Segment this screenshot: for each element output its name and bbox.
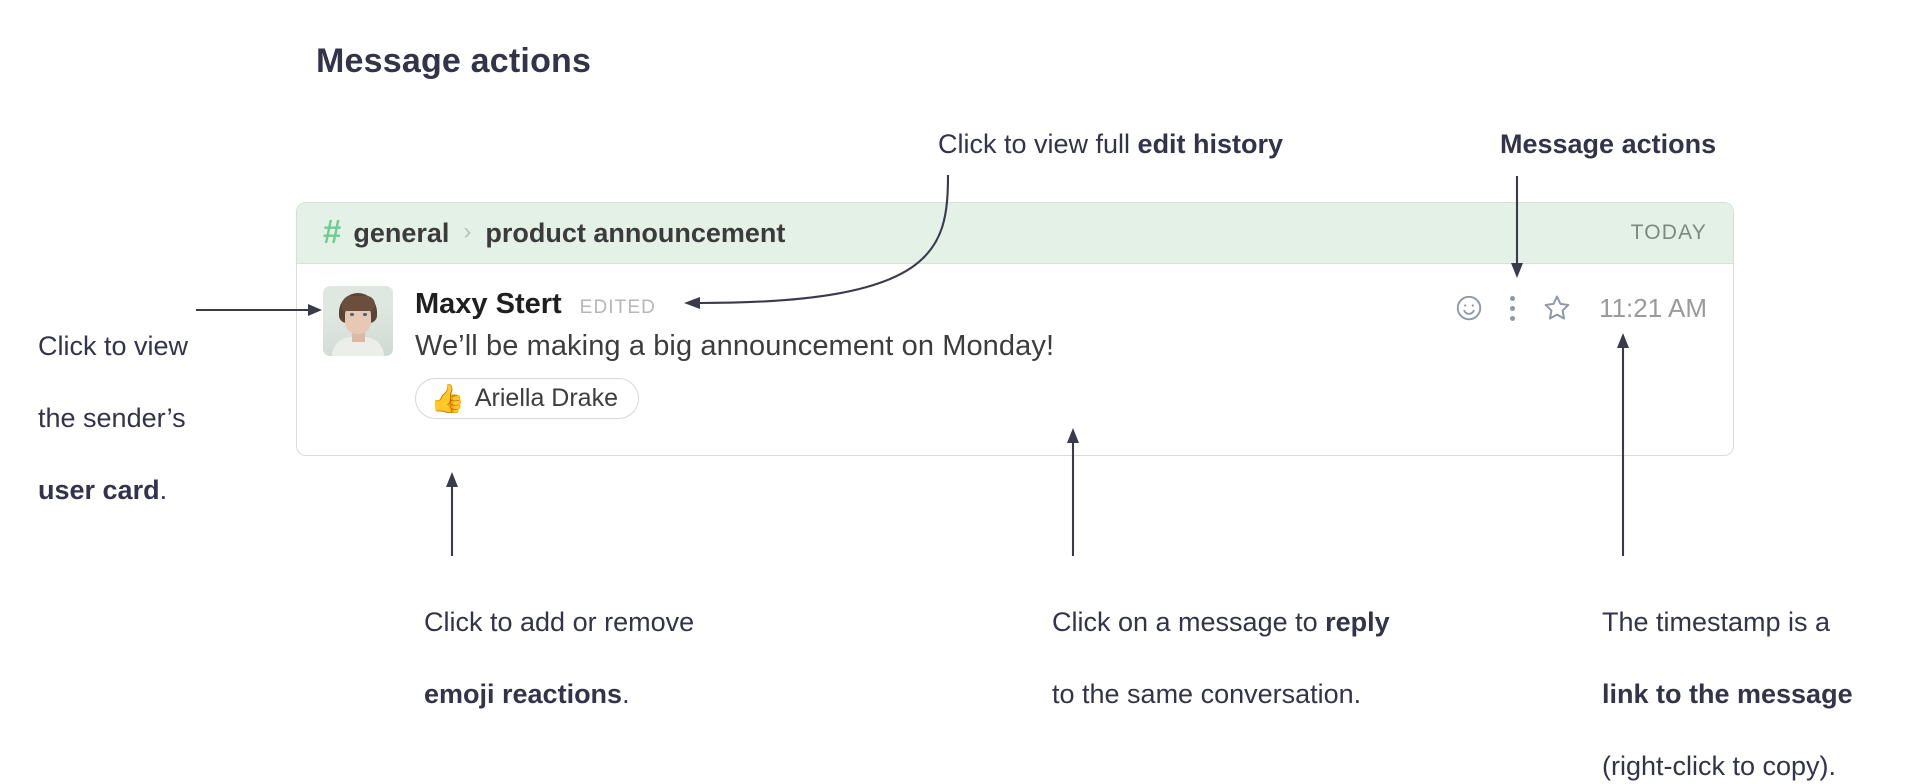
day-label: TODAY <box>1631 221 1707 245</box>
dot-3 <box>1510 316 1515 321</box>
annotation-emoji-reactions-line1: Click to add or remove <box>424 607 694 637</box>
annotation-actions-menu-bold: Message actions <box>1500 129 1716 159</box>
edited-label[interactable]: EDITED <box>580 297 656 319</box>
thumbs-up-icon: 👍 <box>430 385 465 413</box>
annotation-user-card: Click to view the sender’s user card. <box>38 292 288 508</box>
message-card: # general › product announcement TODAY M… <box>296 202 1734 456</box>
annotation-emoji-reactions: Click to add or remove emoji reactions. <box>424 568 804 712</box>
annotation-timestamp-link-bold: link to the message <box>1602 679 1853 709</box>
annotation-user-card-line2: the sender’s <box>38 403 186 433</box>
avatar[interactable] <box>323 286 393 356</box>
reaction-pill[interactable]: 👍 Ariella Drake <box>415 378 639 419</box>
message-actions-menu-icon[interactable] <box>1510 293 1515 323</box>
annotation-reply-bold: reply <box>1325 607 1390 637</box>
add-reaction-icon[interactable] <box>1454 293 1484 323</box>
hash-icon: # <box>323 215 341 248</box>
card-body[interactable]: Maxy Stert EDITED We’ll be making a big … <box>297 264 1733 419</box>
annotation-reply: Click on a message to reply to the same … <box>1052 568 1472 712</box>
connector-emoji-reactions <box>446 472 458 556</box>
annotation-edit-history-line1-pre: Click to view full <box>938 129 1138 159</box>
star-message-icon[interactable] <box>1541 292 1573 324</box>
reaction-user: Ariella Drake <box>475 384 618 413</box>
dot-1 <box>1510 296 1515 301</box>
topic-name[interactable]: product announcement <box>485 218 785 249</box>
dot-2 <box>1510 306 1515 311</box>
annotation-emoji-reactions-line2-post: . <box>622 679 630 709</box>
sender-name[interactable]: Maxy Stert <box>415 288 562 321</box>
annotation-timestamp-link-line3: (right-click to copy). <box>1602 751 1836 781</box>
message-timestamp[interactable]: 11:21 AM <box>1599 293 1707 324</box>
avatar-fringe <box>342 296 375 311</box>
page-title: Message actions <box>316 42 591 81</box>
annotation-user-card-bold: user card <box>38 475 160 505</box>
avatar-eye-left <box>350 313 354 316</box>
card-header: # general › product announcement TODAY <box>297 203 1733 264</box>
annotation-user-card-line3-post: . <box>160 475 168 505</box>
annotation-emoji-reactions-bold: emoji reactions <box>424 679 622 709</box>
annotation-timestamp-link: The timestamp is a link to the message (… <box>1602 568 1922 784</box>
annotation-edit-history-bold: edit history <box>1138 129 1284 159</box>
message-header-row: Maxy Stert EDITED <box>415 288 1054 321</box>
annotation-reply-line2: to the same conversation. <box>1052 679 1361 709</box>
message-content: Maxy Stert EDITED We’ll be making a big … <box>415 286 1054 419</box>
channel-name[interactable]: general <box>353 218 449 249</box>
message-actions-row: 11:21 AM <box>1428 292 1707 324</box>
message-text[interactable]: We’ll be making a big announcement on Mo… <box>415 330 1054 363</box>
avatar-eye-right <box>363 313 367 316</box>
annotation-user-card-line1: Click to view <box>38 331 188 361</box>
annotation-timestamp-link-line1: The timestamp is a <box>1602 607 1830 637</box>
annotation-reply-line1-pre: Click on a message to <box>1052 607 1325 637</box>
chevron-right-icon: › <box>463 218 471 246</box>
